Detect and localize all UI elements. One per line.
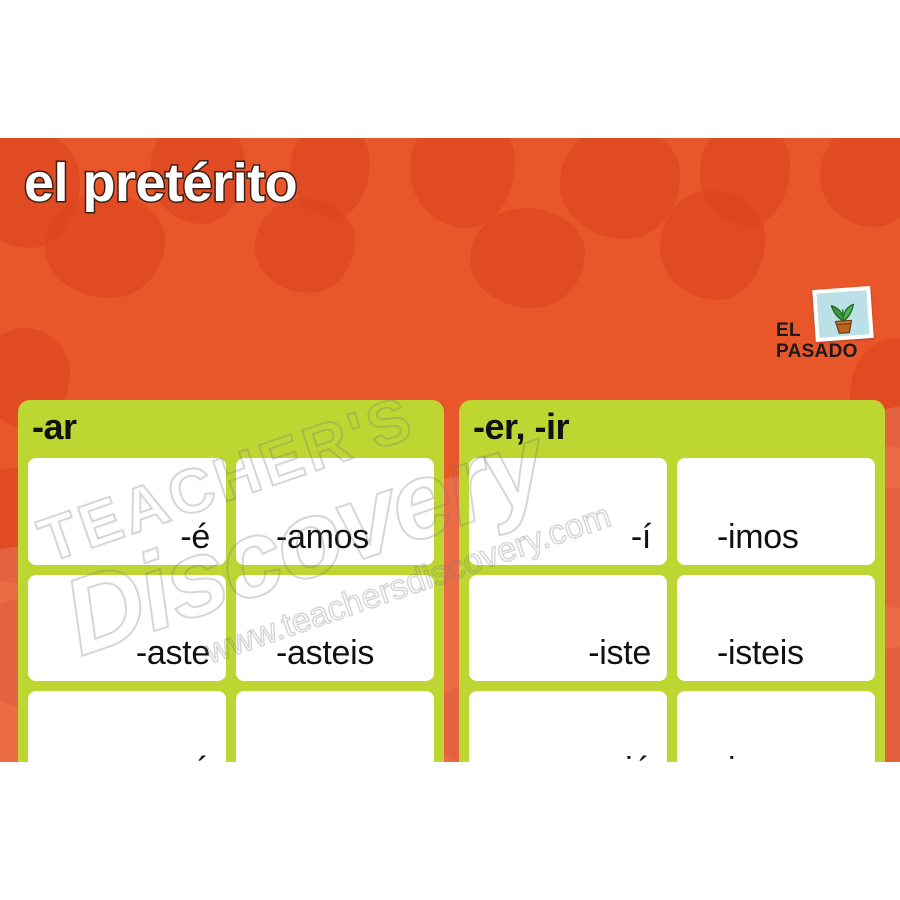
ending-cell: -aron [236,691,434,762]
background-blob [560,138,680,239]
page-title: el pretérito [24,156,297,210]
ar-endings-grid: -é -amos -aste -asteis -ó -aron [28,458,434,762]
ar-panel-title: -ar [32,406,77,448]
er-ir-endings-grid: -í -imos -iste -isteis -ió -ieron [469,458,875,762]
poster-canvas: el pretérito ELPASADO -ar - [0,138,900,762]
background-blob [660,190,765,300]
ar-panel: -ar -é -amos -aste -asteis -ó -aron [18,400,444,762]
ending-cell: -ió [469,691,667,762]
ending-cell: -iste [469,575,667,682]
background-blob [820,138,900,227]
background-blob [470,208,585,308]
ending-cell: -asteis [236,575,434,682]
ending-cell: -aste [28,575,226,682]
er-ir-panel-title: -er, -ir [473,406,569,448]
ending-cell: -ó [28,691,226,762]
er-ir-panel: -er, -ir -í -imos -iste -isteis -ió -ier… [459,400,885,762]
ending-cell: -isteis [677,575,875,682]
ending-cell: -ieron [677,691,875,762]
ending-cell: -í [469,458,667,565]
ending-cell: -é [28,458,226,565]
badge-line-1: EL [776,320,801,341]
el-pasado-badge: ELPASADO [776,288,896,380]
ending-cell: -imos [677,458,875,565]
ending-cell: -amos [236,458,434,565]
badge-line-2: PASADO [776,341,858,362]
el-pasado-label: ELPASADO [776,321,884,362]
poster-image: el pretérito ELPASADO -ar - [0,0,900,900]
